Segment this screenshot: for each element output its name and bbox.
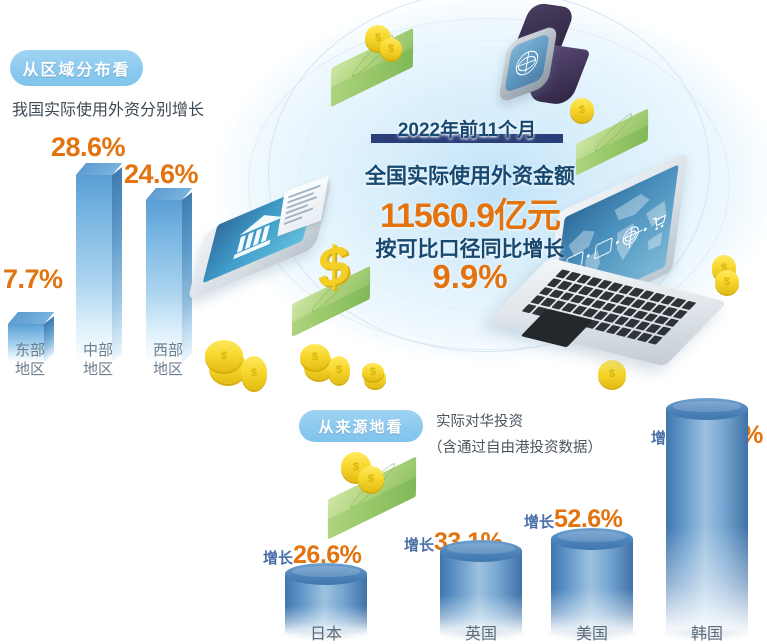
- gold-coin-icon: $: [715, 270, 739, 294]
- bar-category-east: 东部 地区: [1, 341, 59, 379]
- bar-value-west: 24.6%: [124, 159, 198, 190]
- source-note-2: （含通过自由港投资数据）: [428, 437, 602, 459]
- cylinder-top-cap: [440, 540, 522, 562]
- cylinder-category-usa: 美国: [551, 620, 633, 644]
- bar-category-line1: 西部: [139, 341, 197, 360]
- smartphone-bank-icon: [196, 183, 346, 289]
- bar-west: [146, 188, 182, 362]
- center-title-band: 2022年前11个月: [371, 117, 563, 143]
- bar-front-face: [146, 200, 182, 362]
- source-note-1: 实际对华投资: [436, 411, 523, 433]
- section-label-region: 从区域分布看: [10, 50, 143, 86]
- bar-side-face: [182, 192, 192, 362]
- gold-coin-icon: $: [300, 344, 330, 370]
- shopping-cart-icon: [650, 212, 667, 234]
- bar-category-line1: 中部: [69, 341, 127, 360]
- bar-side-face: [112, 167, 122, 362]
- gold-coin-icon: $: [328, 356, 350, 384]
- gold-coin-icon: $: [362, 363, 384, 381]
- bar-front-face: [76, 175, 112, 362]
- section-label-source: 从来源地看: [299, 410, 423, 442]
- infographic-canvas: 从区域分布看 我国实际使用外资分别增长 7.7% 28.6% 24.6% 东部 …: [0, 0, 767, 644]
- bar-category-line1: 东部: [1, 341, 59, 360]
- dot-separator-icon: [616, 240, 619, 245]
- cylinder-top-cap: [666, 398, 748, 420]
- bar-category-line2: 地区: [1, 360, 59, 379]
- center-title-text: 2022年前11个月: [371, 115, 563, 142]
- gold-coin-icon: $: [205, 340, 243, 372]
- bar-category-west: 西部 地区: [139, 341, 197, 379]
- globe-icon: [514, 47, 540, 78]
- smartwatch-icon: [497, 3, 595, 115]
- center-growth: 9.9%: [355, 258, 585, 296]
- center-line-1: 全国实际使用外资金额: [355, 160, 585, 190]
- dot-separator-icon: [643, 227, 646, 232]
- growth-prefix: 增长: [404, 537, 434, 554]
- gold-coin-icon: $: [380, 38, 402, 60]
- cylinder-body: [666, 409, 748, 635]
- bar-central: [76, 163, 112, 362]
- bar-value-east: 7.7%: [3, 264, 63, 295]
- cylinder-category-korea: 韩国: [666, 620, 748, 644]
- cylinder-category-uk: 英国: [440, 620, 522, 644]
- bar-category-central: 中部 地区: [69, 341, 127, 379]
- bar-category-line2: 地区: [69, 360, 127, 379]
- region-note: 我国实际使用外资分别增长: [12, 100, 204, 122]
- dot-separator-icon: [587, 253, 590, 258]
- cylinder-usa: [551, 528, 633, 635]
- center-amount: 11560.9亿元: [355, 188, 585, 237]
- gold-coin-icon: $: [241, 356, 267, 390]
- bar-value-central: 28.6%: [51, 132, 125, 163]
- bar-category-line2: 地区: [139, 360, 197, 379]
- growth-prefix: 增长: [524, 514, 554, 531]
- cylinder-category-japan: 日本: [285, 620, 367, 644]
- cylinder-top-cap: [551, 528, 633, 550]
- gold-coin-icon: $: [358, 466, 384, 492]
- cylinder-top-cap: [285, 563, 367, 585]
- cylinder-korea: [666, 398, 748, 635]
